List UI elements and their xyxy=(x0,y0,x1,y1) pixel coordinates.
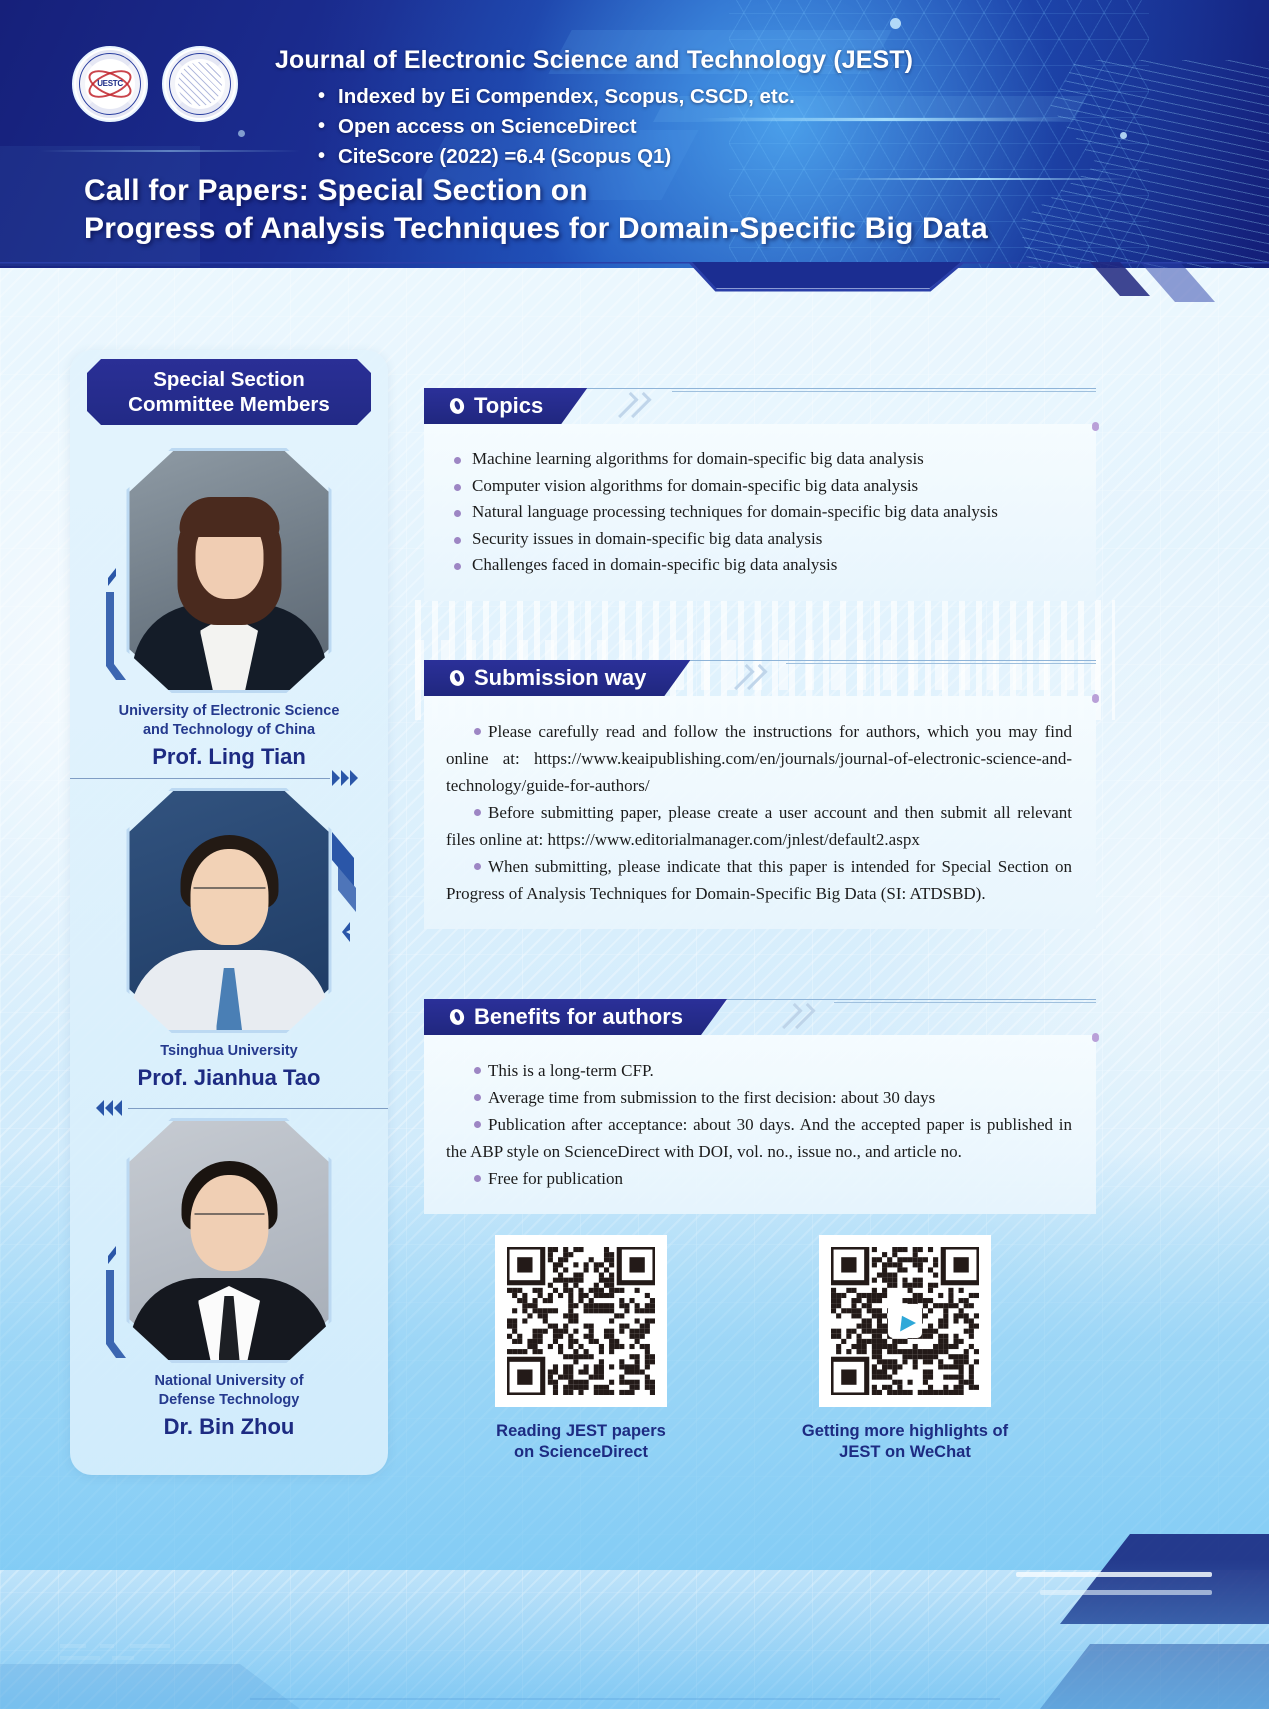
member-photo-wrap xyxy=(70,1118,388,1366)
member-name: Prof. Jianhua Tao xyxy=(70,1065,388,1091)
benefits-body: This is a long-term CFP. Average time fr… xyxy=(424,1035,1096,1214)
member-name: Dr. Bin Zhou xyxy=(70,1414,388,1440)
paragraph-bullet-icon xyxy=(474,863,481,870)
double-chevron-icon xyxy=(736,664,760,690)
paragraph-bullet-icon xyxy=(474,1121,481,1128)
submission-header-rule xyxy=(786,663,1096,664)
chevron-left-icon xyxy=(114,1100,122,1116)
topics-list-item: Natural language processing techniques f… xyxy=(446,499,1072,526)
topics-tab: Topics xyxy=(424,388,587,424)
header-bullet-item: Open access on ScienceDirect xyxy=(318,112,795,142)
sidebar-banner: Special Section Committee Members xyxy=(87,359,371,425)
double-chevron-icon xyxy=(620,392,644,418)
paragraph-bullet-icon xyxy=(474,1094,481,1101)
topics-panel: Topics Machine learning algorithms for d… xyxy=(424,388,1096,601)
sidebar-banner-line-1: Special Section xyxy=(87,367,371,392)
header-bullet-item: CiteScore (2022) =6.4 (Scopus Q1) xyxy=(318,142,795,172)
member-photo xyxy=(127,1118,332,1363)
qr-code-item[interactable]: Reading JEST papers on ScienceDirect xyxy=(456,1235,706,1463)
member-affiliation-line-1: Tsinghua University xyxy=(70,1042,388,1061)
submission-paragraph: When submitting, please indicate that th… xyxy=(446,853,1072,907)
paragraph-bullet-icon xyxy=(474,1067,481,1074)
poster-header: UESTC Journal of Electronic Science and … xyxy=(0,0,1269,268)
face-silhouette-graphic xyxy=(1019,60,1269,268)
footer-decoration xyxy=(0,1494,1269,1709)
sidebar-divider xyxy=(70,768,388,790)
paragraph-bullet-icon xyxy=(474,1175,481,1182)
member-affiliation-line-1: University of Electronic Science xyxy=(70,702,388,721)
member-photo-wrap xyxy=(70,788,388,1036)
topics-title: Topics xyxy=(474,393,543,419)
chevron-right-icon xyxy=(350,770,358,786)
paragraph-bullet-icon xyxy=(474,809,481,816)
qr-caption-line-2: JEST on WeChat xyxy=(780,1442,1030,1463)
qr-caption-line-2: on ScienceDirect xyxy=(456,1442,706,1463)
submission-paragraph-text: Please carefully read and follow the ins… xyxy=(446,722,1072,795)
member-photo-wrap xyxy=(70,448,388,696)
member-affiliation: National University of Defense Technolog… xyxy=(70,1372,388,1410)
benefits-panel: Benefits for authors This is a long-term… xyxy=(424,999,1096,1214)
member-hair-front xyxy=(179,497,279,537)
logo-group: UESTC xyxy=(72,46,238,122)
header-bullet-item: Indexed by Ei Compendex, Scopus, CSCD, e… xyxy=(318,82,795,112)
school-logo-emblem xyxy=(178,62,222,106)
paragraph-bullet-icon xyxy=(474,728,481,735)
qr-caption-line-1: Getting more highlights of xyxy=(780,1421,1030,1442)
header-dot-1 xyxy=(890,18,901,29)
member-affiliation: Tsinghua University xyxy=(70,1042,388,1061)
benefits-paragraph-text: This is a long-term CFP. xyxy=(488,1061,654,1080)
benefits-paragraph-text: Free for publication xyxy=(488,1169,623,1188)
topics-list-item: Security issues in domain-specific big d… xyxy=(446,526,1072,553)
school-logo xyxy=(162,46,238,122)
member-face xyxy=(190,1175,268,1271)
double-chevron-icon xyxy=(784,1003,808,1029)
member-face xyxy=(190,849,268,945)
benefits-paragraph: Publication after acceptance: about 30 d… xyxy=(446,1111,1072,1165)
sciencedirect-qr-icon[interactable] xyxy=(507,1247,655,1395)
chevron-right-icon xyxy=(341,770,349,786)
section-marker-icon xyxy=(448,1007,466,1027)
header-dot-2 xyxy=(1120,132,1127,139)
wechat-qr-icon[interactable] xyxy=(831,1247,979,1395)
topics-header-rule xyxy=(672,391,1096,392)
benefits-header-rule xyxy=(834,1002,1096,1003)
wechat-qr-center-logo xyxy=(888,1304,922,1338)
member-name: Prof. Ling Tian xyxy=(70,744,388,770)
benefits-tab: Benefits for authors xyxy=(424,999,727,1035)
topics-body: Machine learning algorithms for domain-s… xyxy=(424,424,1096,601)
benefits-paragraph: Free for publication xyxy=(446,1165,1072,1192)
qr-caption: Getting more highlights of JEST on WeCha… xyxy=(780,1421,1030,1463)
uestc-logo-text: UESTC xyxy=(97,80,123,88)
submission-title: Submission way xyxy=(474,665,646,691)
member-frame-chevron-left xyxy=(104,1246,130,1366)
submission-paragraph-text: Before submitting paper, please create a… xyxy=(446,803,1072,849)
topics-list-item: Computer vision algorithms for domain-sp… xyxy=(446,473,1072,500)
leaf-icon xyxy=(894,1311,916,1331)
journal-title: Journal of Electronic Science and Techno… xyxy=(275,46,913,75)
committee-member: National University of Defense Technolog… xyxy=(70,1118,388,1440)
qr-caption: Reading JEST papers on ScienceDirect xyxy=(456,1421,706,1463)
sciencedirect-qr-box[interactable] xyxy=(495,1235,667,1407)
sidebar-divider xyxy=(70,1098,388,1120)
chevron-left-icon xyxy=(96,1100,104,1116)
member-affiliation-line-2: Defense Technology xyxy=(70,1391,388,1410)
section-marker-icon xyxy=(448,668,466,688)
member-affiliation: University of Electronic Science and Tec… xyxy=(70,702,388,740)
benefits-paragraph-text: Publication after acceptance: about 30 d… xyxy=(446,1115,1072,1161)
sidebar-banner-line-2: Committee Members xyxy=(87,392,371,417)
accent-dot xyxy=(1092,422,1099,429)
chevron-left-group-icon xyxy=(96,1100,122,1116)
header-bullet-list: Indexed by Ei Compendex, Scopus, CSCD, e… xyxy=(318,82,795,172)
member-glasses xyxy=(194,1213,264,1215)
qr-caption-line-1: Reading JEST papers xyxy=(456,1421,706,1442)
member-photo xyxy=(127,788,332,1033)
submission-paragraph: Please carefully read and follow the ins… xyxy=(446,718,1072,799)
submission-body: Please carefully read and follow the ins… xyxy=(424,696,1096,929)
divider-line xyxy=(128,1108,388,1109)
submission-tab: Submission way xyxy=(424,660,690,696)
member-affiliation-line-1: National University of xyxy=(70,1372,388,1391)
submission-header: Submission way xyxy=(424,660,1096,696)
member-affiliation-line-2: and Technology of China xyxy=(70,721,388,740)
cfp-line-1: Call for Papers: Special Section on xyxy=(84,172,988,210)
wechat-qr-box[interactable] xyxy=(819,1235,991,1407)
poster-root: UESTC Journal of Electronic Science and … xyxy=(0,0,1269,1709)
benefits-paragraph-text: Average time from submission to the firs… xyxy=(488,1088,935,1107)
call-for-papers-title: Call for Papers: Special Section on Prog… xyxy=(84,172,988,248)
footer-shapes xyxy=(0,1494,1269,1709)
benefits-paragraph: Average time from submission to the firs… xyxy=(446,1084,1072,1111)
accent-dot xyxy=(1092,694,1099,701)
qr-code-zone: Reading JEST papers on ScienceDirect Get… xyxy=(424,1235,1096,1475)
benefits-title: Benefits for authors xyxy=(474,1004,683,1030)
benefits-paragraph: This is a long-term CFP. xyxy=(446,1057,1072,1084)
header-notch-shape xyxy=(0,262,1269,332)
member-glasses xyxy=(193,887,265,889)
benefits-header: Benefits for authors xyxy=(424,999,1096,1035)
committee-member: Tsinghua University Prof. Jianhua Tao xyxy=(70,788,388,1091)
chevron-right-icon xyxy=(332,770,340,786)
topics-header: Topics xyxy=(424,388,1096,424)
section-marker-icon xyxy=(448,396,466,416)
uestc-logo: UESTC xyxy=(72,46,148,122)
topics-list: Machine learning algorithms for domain-s… xyxy=(446,446,1072,579)
member-frame-chevron-right xyxy=(328,826,358,956)
submission-paragraph: Before submitting paper, please create a… xyxy=(446,799,1072,853)
topics-list-item: Machine learning algorithms for domain-s… xyxy=(446,446,1072,473)
member-photo xyxy=(127,448,332,693)
header-dot-3 xyxy=(238,130,245,137)
header-streak-3 xyxy=(40,150,300,152)
submission-paragraph-text: When submitting, please indicate that th… xyxy=(446,857,1072,903)
qr-code-item[interactable]: Getting more highlights of JEST on WeCha… xyxy=(780,1235,1030,1463)
submission-panel: Submission way Please carefully read and… xyxy=(424,660,1096,929)
topics-list-item: Challenges faced in domain-specific big … xyxy=(446,552,1072,579)
committee-sidebar: Special Section Committee Members xyxy=(70,350,388,1475)
divider-line xyxy=(70,778,330,779)
footer-band xyxy=(0,1559,1269,1709)
chevron-left-icon xyxy=(105,1100,113,1116)
committee-member: University of Electronic Science and Tec… xyxy=(70,448,388,770)
accent-dot xyxy=(1092,1033,1099,1040)
chevron-right-group-icon xyxy=(332,770,358,786)
member-frame-chevron-left xyxy=(104,568,130,688)
cfp-line-2: Progress of Analysis Techniques for Doma… xyxy=(84,210,988,248)
